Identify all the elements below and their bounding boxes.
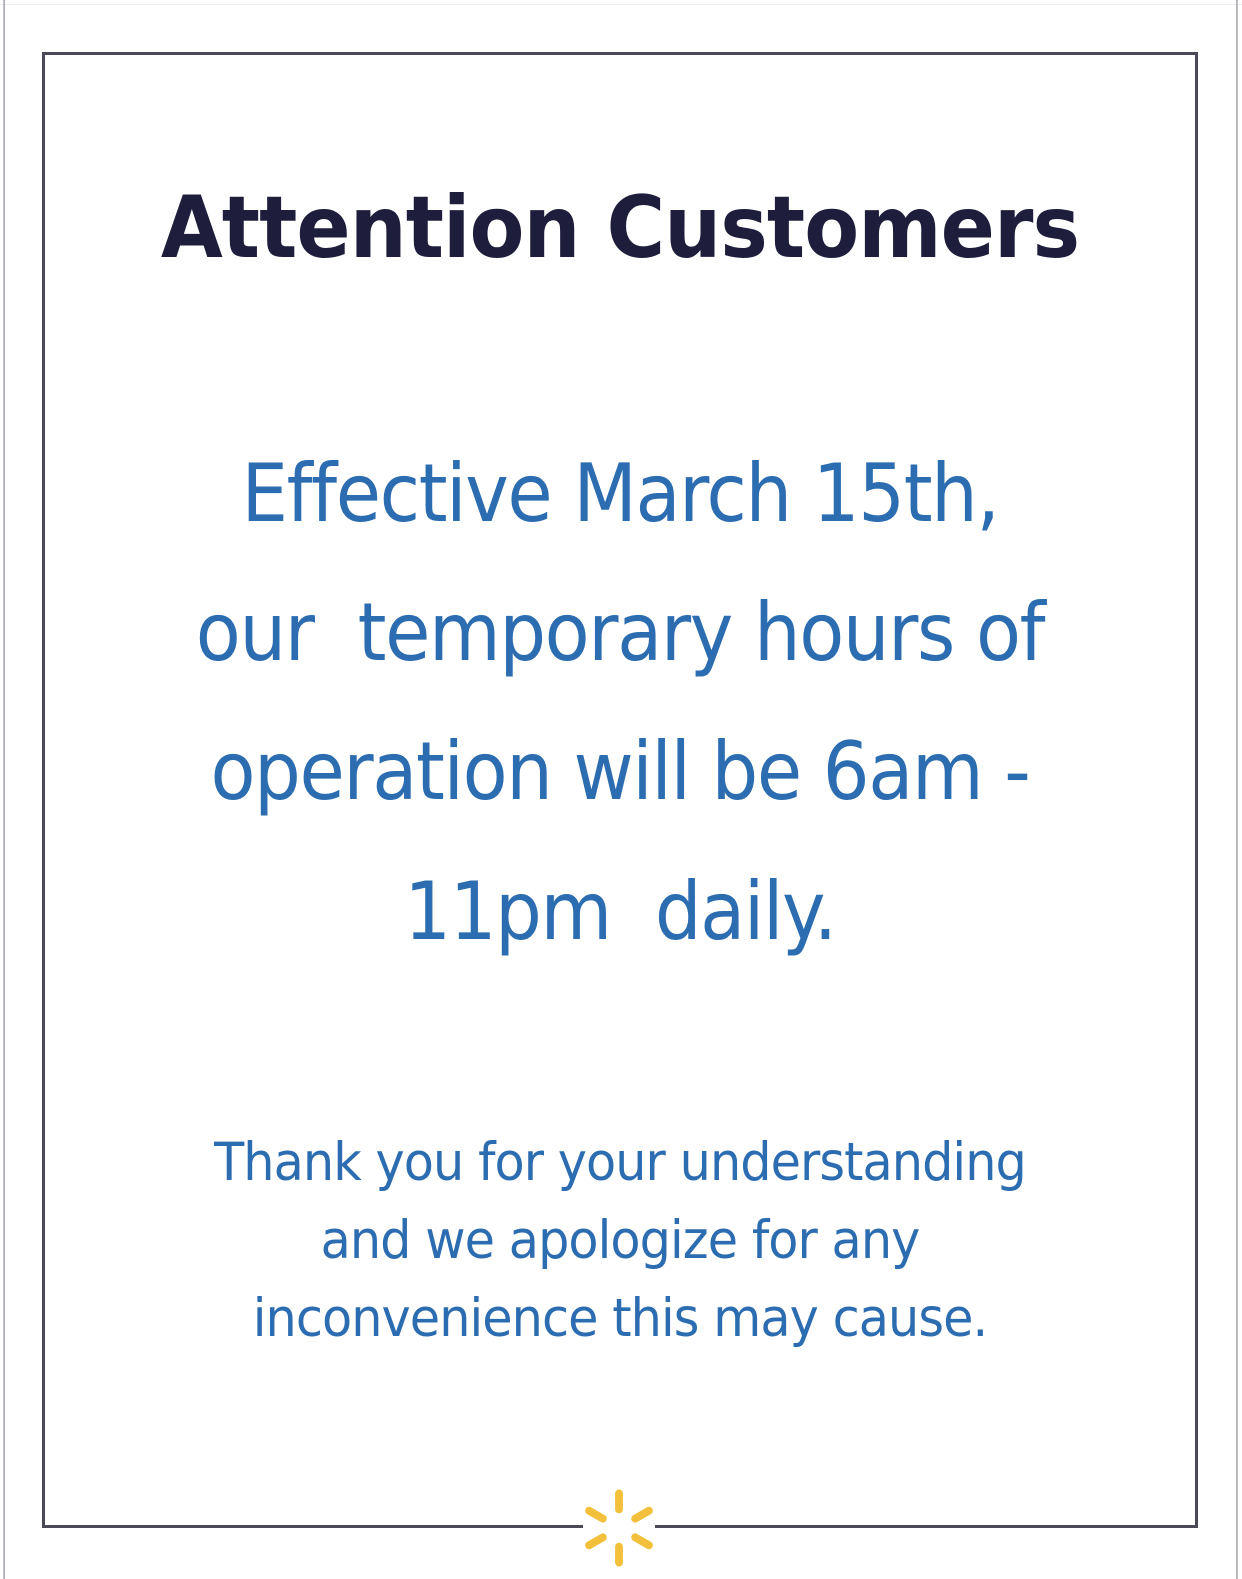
notice-body-text: Effective March 15th, our temporary hour… [134, 424, 1106, 981]
notice-page: Attention Customers Effective March 15th… [0, 0, 1242, 1579]
sheet-edge-right [1236, 0, 1238, 1579]
sheet-edge-left [3, 0, 5, 1579]
notice-content: Attention Customers Effective March 15th… [42, 52, 1198, 1528]
notice-headline: Attention Customers [82, 185, 1157, 271]
sheet-edge-top [0, 4, 1242, 5]
notice-closing-text: Thank you for your understanding and we … [138, 1124, 1101, 1358]
walmart-spark-icon [578, 1487, 660, 1569]
